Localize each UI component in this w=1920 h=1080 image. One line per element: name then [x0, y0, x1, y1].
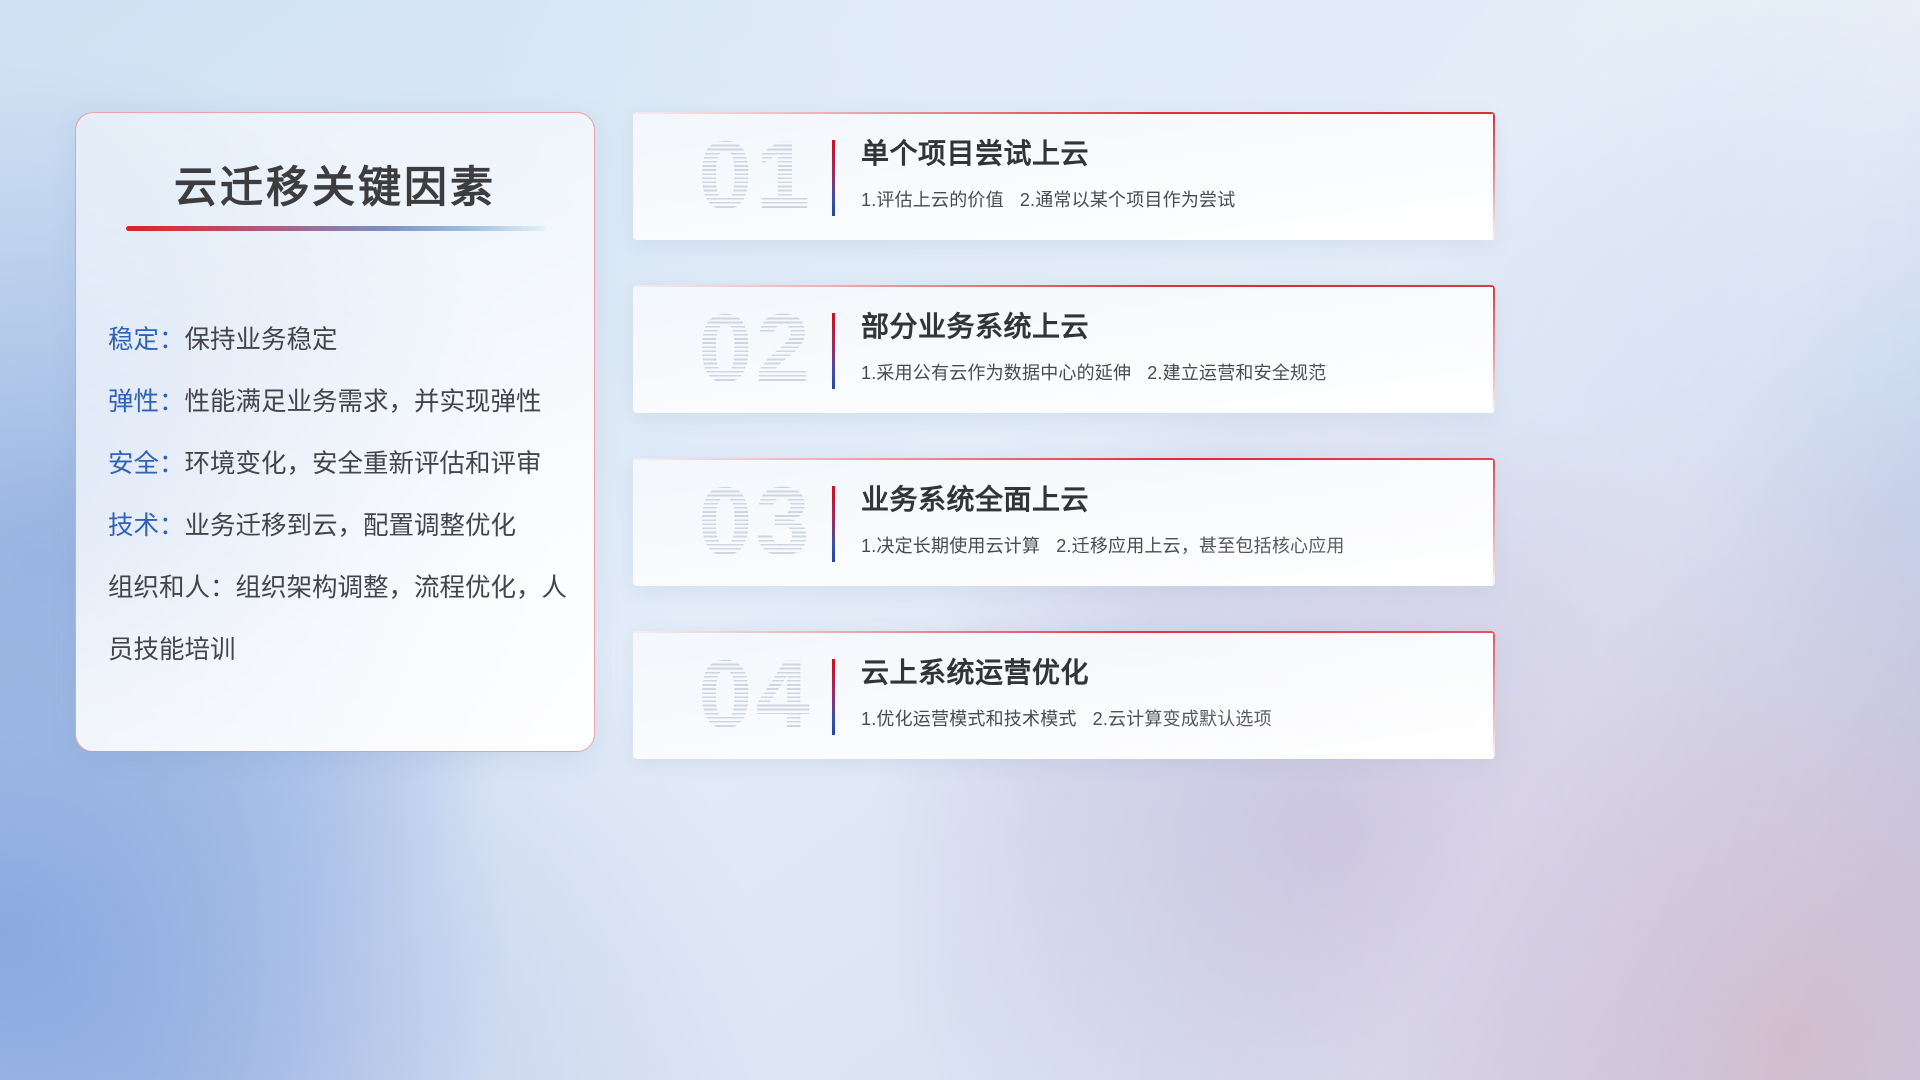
factor-value: 环境变化，安全重新评估和评审	[185, 450, 542, 478]
stage-card[interactable]: 01 单个项目尝试上云 1.评估上云的价值2.通常以某个项目作为尝试	[633, 112, 1495, 240]
factor-row: 弹性：性能满足业务需求，并实现弹性	[108, 371, 576, 433]
stage-item-2: 2.建立运营和安全规范	[1147, 363, 1326, 383]
stage-number-watermark: 02	[661, 293, 851, 405]
factor-list: 稳定：保持业务稳定 弹性：性能满足业务需求，并实现弹性 安全：环境变化，安全重新…	[108, 309, 576, 681]
stage-item-2: 2.迁移应用上云，甚至包括核心应用	[1056, 536, 1344, 556]
stage-number-watermark: 03	[661, 466, 851, 578]
factor-label: 安全：	[108, 450, 185, 478]
factor-value: 性能满足业务需求，并实现弹性	[185, 388, 542, 416]
slide-canvas: 云迁移关键因素 稳定：保持业务稳定 弹性：性能满足业务需求，并实现弹性 安全：环…	[0, 0, 1920, 1080]
stage-card-text: 部分业务系统上云 1.采用公有云作为数据中心的延伸2.建立运营和安全规范	[861, 305, 1475, 385]
stage-heading: 部分业务系统上云	[861, 305, 1475, 345]
stage-heading: 云上系统运营优化	[861, 651, 1475, 691]
stage-card[interactable]: 03 业务系统全面上云 1.决定长期使用云计算2.迁移应用上云，甚至包括核心应用	[633, 458, 1495, 586]
factor-value: 保持业务稳定	[185, 326, 338, 354]
factor-row: 组织和人：组织架构调整，流程优化，人员技能培训	[108, 557, 576, 681]
stage-divider-bar	[832, 140, 835, 216]
stage-description: 1.决定长期使用云计算2.迁移应用上云，甚至包括核心应用	[861, 532, 1475, 558]
stage-card-text: 云上系统运营优化 1.优化运营模式和技术模式2.云计算变成默认选项	[861, 651, 1475, 731]
stage-number-watermark: 04	[661, 639, 851, 751]
stage-divider-bar	[832, 313, 835, 389]
factor-row: 技术：业务迁移到云，配置调整优化	[108, 495, 576, 557]
key-factors-panel: 云迁移关键因素 稳定：保持业务稳定 弹性：性能满足业务需求，并实现弹性 安全：环…	[75, 112, 595, 752]
stage-heading: 业务系统全面上云	[861, 478, 1475, 518]
stage-description: 1.优化运营模式和技术模式2.云计算变成默认选项	[861, 705, 1475, 731]
stage-description: 1.评估上云的价值2.通常以某个项目作为尝试	[861, 186, 1475, 212]
title-underline-rule	[126, 226, 546, 231]
factor-label: 技术：	[108, 512, 185, 540]
stage-item-2: 2.通常以某个项目作为尝试	[1020, 190, 1236, 210]
stage-card-text: 单个项目尝试上云 1.评估上云的价值2.通常以某个项目作为尝试	[861, 132, 1475, 212]
stage-divider-bar	[832, 486, 835, 562]
stage-item-1: 1.评估上云的价值	[861, 190, 1004, 210]
stage-card[interactable]: 02 部分业务系统上云 1.采用公有云作为数据中心的延伸2.建立运营和安全规范	[633, 285, 1495, 413]
stage-item-1: 1.优化运营模式和技术模式	[861, 709, 1077, 729]
factor-row: 稳定：保持业务稳定	[108, 309, 576, 371]
factor-label: 弹性：	[108, 388, 185, 416]
stage-item-1: 1.采用公有云作为数据中心的延伸	[861, 363, 1131, 383]
stage-number-watermark: 01	[661, 120, 851, 232]
factor-label: 稳定：	[108, 326, 185, 354]
stage-card-list: 01 单个项目尝试上云 1.评估上云的价值2.通常以某个项目作为尝试 02 部分…	[633, 112, 1495, 804]
stage-divider-bar	[832, 659, 835, 735]
stage-item-1: 1.决定长期使用云计算	[861, 536, 1040, 556]
stage-item-2: 2.云计算变成默认选项	[1093, 709, 1272, 729]
stage-card[interactable]: 04 云上系统运营优化 1.优化运营模式和技术模式2.云计算变成默认选项	[633, 631, 1495, 759]
stage-card-text: 业务系统全面上云 1.决定长期使用云计算2.迁移应用上云，甚至包括核心应用	[861, 478, 1475, 558]
factor-label: 组织和人：	[108, 574, 236, 602]
factor-row: 安全：环境变化，安全重新评估和评审	[108, 433, 576, 495]
page-title: 云迁移关键因素	[76, 153, 594, 215]
factor-value: 业务迁移到云，配置调整优化	[185, 512, 517, 540]
stage-description: 1.采用公有云作为数据中心的延伸2.建立运营和安全规范	[861, 359, 1475, 385]
stage-heading: 单个项目尝试上云	[861, 132, 1475, 172]
